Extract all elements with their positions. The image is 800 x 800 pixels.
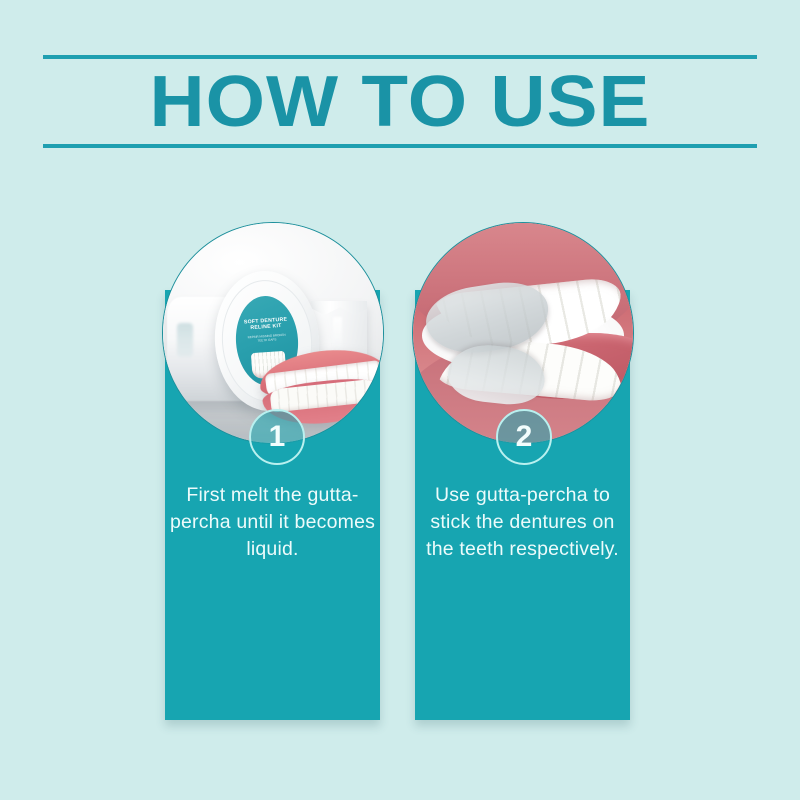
step-number-badge-2: 2 bbox=[496, 409, 552, 465]
poster-canvas: HOW TO USE First melt the gutta-percha u… bbox=[0, 0, 800, 800]
title-rule-bottom bbox=[43, 144, 757, 148]
product-label-subtitle: REPAIR MISSING BROKEN TEETH GAPS bbox=[245, 332, 289, 343]
step-number-badge-1: 1 bbox=[249, 409, 305, 465]
title-rule-top bbox=[43, 55, 757, 59]
step-caption-1: First melt the gutta-percha until it bec… bbox=[169, 482, 376, 563]
title-block: HOW TO USE bbox=[43, 55, 757, 155]
product-label-title: SOFT DENTURE RELINE KIT bbox=[240, 316, 291, 332]
step-caption-2: Use gutta-percha to stick the dentures o… bbox=[419, 482, 626, 563]
page-title: HOW TO USE bbox=[22, 61, 779, 143]
